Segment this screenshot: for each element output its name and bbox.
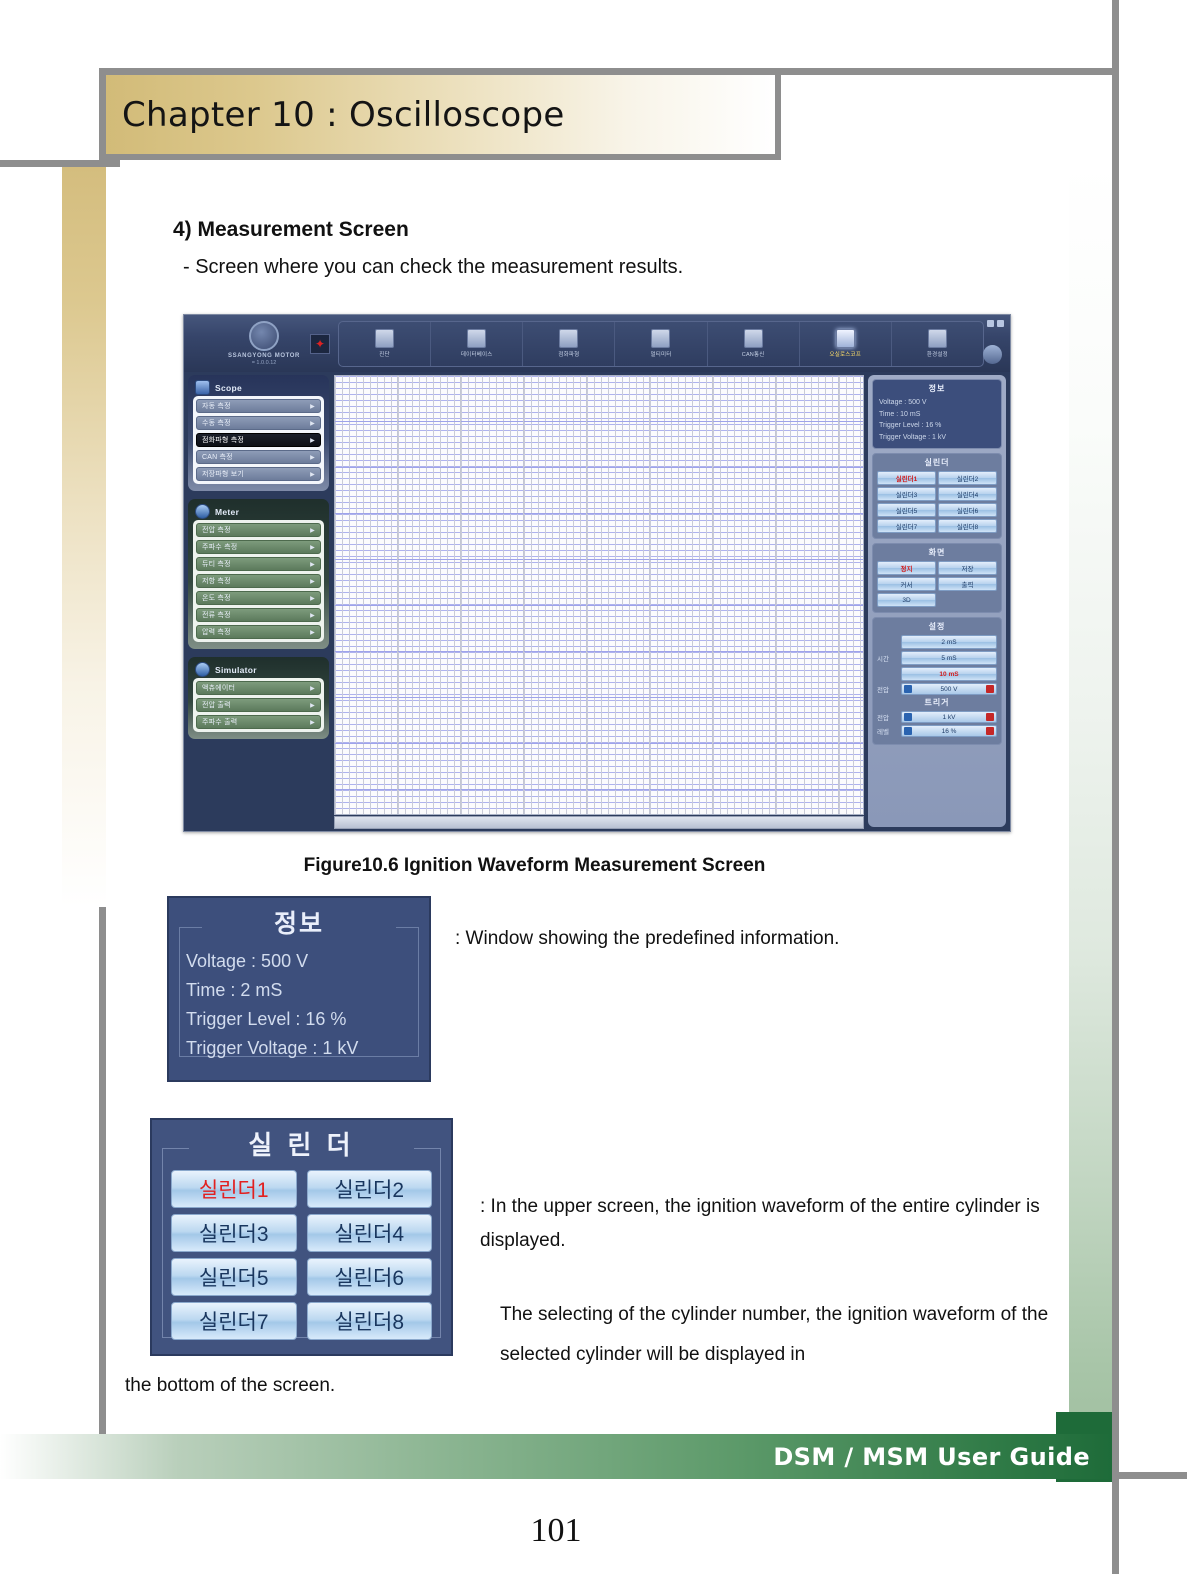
toolbar-item-settings[interactable]: 환경설정 (892, 322, 983, 366)
horizontal-scrollbar[interactable] (334, 816, 864, 829)
chevron-right-icon: ▶ (310, 612, 315, 619)
panel-settings: 설정시간2 mS5 mS10 mS전압500 V트리거전압1 kV레벨16 % (872, 617, 1002, 745)
settings-time-option[interactable]: 10 mS (901, 667, 997, 681)
sidebar-item-scope[interactable]: 수동 측정▶ (196, 416, 321, 430)
sidebar-item-label: 압력 측정 (202, 627, 231, 637)
cylinder-note-2: The selecting of the cylinder number, th… (500, 1295, 1060, 1375)
toolbar-item-diamond[interactable]: 데이터베이스 (431, 322, 523, 366)
toolbar-item-magnifier[interactable]: 진단 (339, 322, 431, 366)
chevron-right-icon: ▶ (310, 685, 315, 692)
toolbar-item-label: 멀티미터 (650, 350, 671, 358)
sidebar-panel-header: Simulator (193, 661, 324, 678)
cylinder-callout-button[interactable]: 실린더5 (171, 1258, 297, 1296)
chevron-right-icon: ▶ (310, 420, 315, 427)
simulator-panel-icon (195, 662, 210, 677)
settings-trigger-voltage-row: 전압1 kV (877, 711, 997, 723)
sidebar-item-label: 자동 측정 (202, 401, 231, 411)
settings-voltage-label: 전압 (877, 684, 897, 694)
chevron-right-icon: ▶ (310, 629, 315, 636)
cylinder-button-grid: 실린더1실린더2실린더3실린더4실린더5실린더6실린더7실린더8 (171, 1170, 432, 1340)
toolbar-item-scope[interactable]: 오실로스코프 (800, 322, 892, 366)
sidebar-item-label: 점화파형 측정 (202, 435, 244, 445)
scope-panel-icon (195, 380, 210, 395)
toolbar-item-label: 오실로스코프 (829, 350, 861, 358)
brand-version: = 1.0.0.12 (252, 360, 277, 366)
toolbar-item-waveform[interactable]: 점화파형 (523, 322, 615, 366)
info-line: Time : 2 mS (180, 976, 418, 1005)
settings-trigger-level-stepper[interactable]: 16 % (901, 725, 997, 737)
cylinder-callout-button[interactable]: 실린더7 (171, 1302, 297, 1340)
toolbar-item-meter[interactable]: 멀티미터 (615, 322, 707, 366)
panel-screen-grid: 정지저장커서출력3D (877, 561, 997, 607)
info-callout-frame: Voltage : 500 V Time : 2 mS Trigger Leve… (179, 927, 419, 1057)
sidebar-item-label: 주파수 출력 (202, 717, 237, 727)
panel-cylinder-button[interactable]: 실린더3 (877, 487, 936, 501)
panel-screen-title: 화면 (877, 547, 997, 558)
sidebar-panel-scope: Scope자동 측정▶수동 측정▶점화파형 측정▶CAN 측정▶저장파형 보기▶ (188, 375, 329, 491)
sidebar-item-meter[interactable]: 전압 측정▶ (196, 523, 321, 537)
panel-info-title: 정보 (877, 383, 997, 394)
sidebar-item-label: 저장파형 보기 (202, 469, 244, 479)
decrement-icon[interactable] (904, 727, 912, 735)
section-title: 4) Measurement Screen (173, 218, 409, 242)
cylinder-callout-button[interactable]: 실린더4 (307, 1214, 433, 1252)
sidebar-panel-simulator: Simulator액츄에이터▶전압 출력▶주파수 출력▶ (188, 657, 329, 739)
cylinder-note-1: : In the upper screen, the ignition wave… (480, 1190, 1060, 1258)
sidebar-item-scope[interactable]: CAN 측정▶ (196, 450, 321, 464)
chevron-right-icon: ▶ (310, 561, 315, 568)
panel-cylinder-button[interactable]: 실린더8 (938, 519, 997, 533)
record-indicator-icon: ✦ (310, 334, 330, 354)
panel-cylinder-button[interactable]: 실린더1 (877, 471, 936, 485)
panel-screen-button[interactable]: 3D (877, 593, 936, 607)
sidebar-item-simulator[interactable]: 주파수 출력▶ (196, 715, 321, 729)
panel-screen-button[interactable]: 저장 (938, 561, 997, 575)
panel-info-line: Time : 10 mS (877, 409, 997, 421)
cylinder-callout-button[interactable]: 실린더8 (307, 1302, 433, 1340)
cylinder-callout-button[interactable]: 실린더6 (307, 1258, 433, 1296)
sidebar-item-scope[interactable]: 점화파형 측정▶ (196, 433, 321, 447)
decorative-gold-strip (62, 167, 106, 907)
window-controls[interactable] (987, 320, 1004, 327)
diamond-icon (467, 329, 486, 348)
settings-trigger-level-row: 레벨16 % (877, 725, 997, 737)
network-icon (744, 329, 763, 348)
app-right-panel: 정보Voltage : 500 VTime : 10 mSTrigger Lev… (868, 375, 1006, 827)
chevron-right-icon: ▶ (310, 454, 315, 461)
panel-cylinder-button[interactable]: 실린더7 (877, 519, 936, 533)
settings-trigger-voltage-value: 1 kV (912, 714, 986, 721)
toolbar-item-label: 환경설정 (927, 350, 948, 358)
sidebar-item-meter[interactable]: 듀티 측정▶ (196, 557, 321, 571)
magnifier-icon (375, 329, 394, 348)
settings-time-option[interactable]: 2 mS (901, 635, 997, 649)
panel-screen-button[interactable]: 출력 (938, 577, 997, 591)
sidebar-item-meter[interactable]: 주파수 측정▶ (196, 540, 321, 554)
sidebar-item-label: 전류 측정 (202, 610, 231, 620)
sidebar-item-label: 주파수 측정 (202, 542, 237, 552)
panel-info-line: Trigger Level : 16 % (877, 420, 997, 432)
panel-screen-button[interactable]: 정지 (877, 561, 936, 575)
settings-time-label: 시간 (877, 653, 897, 663)
cylinder-callout-button[interactable]: 실린더3 (171, 1214, 297, 1252)
increment-icon[interactable] (986, 727, 994, 735)
brand-name: SSANGYONG MOTOR (228, 353, 300, 359)
chevron-right-icon: ▶ (310, 527, 315, 534)
chapter-title: Chapter 10 : Oscilloscope (106, 95, 565, 135)
cylinder-callout-button[interactable]: 실린더2 (307, 1170, 433, 1208)
footer-bar: DSM / MSM User Guide (0, 1434, 1112, 1479)
chevron-right-icon: ▶ (310, 403, 315, 410)
page-border-right (1112, 0, 1119, 1574)
toolbar-item-label: 데이터베이스 (461, 350, 493, 358)
brand-logo-icon (249, 321, 279, 351)
chevron-right-icon: ▶ (310, 702, 315, 709)
settings-trigger-voltage-stepper[interactable]: 1 kV (901, 711, 997, 723)
chevron-right-icon: ▶ (310, 544, 315, 551)
cylinder-callout: 실 린 더 실린더1실린더2실린더3실린더4실린더5실린더6실린더7실린더8 (150, 1118, 453, 1356)
settings-trigger-level-value: 16 % (912, 728, 986, 735)
sidebar-item-meter[interactable]: 저항 측정▶ (196, 574, 321, 588)
meter-panel-icon (195, 504, 210, 519)
panel-cylinder: 실린더실린더1실린더2실린더3실린더4실린더5실린더6실린더7실린더8 (872, 453, 1002, 539)
sidebar-item-simulator[interactable]: 전압 출력▶ (196, 698, 321, 712)
toolbar-item-label: 점화파형 (558, 350, 579, 358)
chevron-right-icon: ▶ (310, 719, 315, 726)
info-line: Voltage : 500 V (180, 947, 418, 976)
panel-cylinder-button[interactable]: 실린더5 (877, 503, 936, 517)
panel-cylinder-button[interactable]: 실린더2 (938, 471, 997, 485)
sidebar-item-label: 수동 측정 (202, 418, 231, 428)
panel-cylinder-button[interactable]: 실린더4 (938, 487, 997, 501)
panel-info-line: Voltage : 500 V (877, 397, 997, 409)
info-line: Trigger Voltage : 1 kV (180, 1034, 418, 1063)
sidebar-item-meter[interactable]: 압력 측정▶ (196, 625, 321, 639)
panel-cylinder-button[interactable]: 실린더6 (938, 503, 997, 517)
settings-time-row: 시간2 mS5 mS10 mS (877, 635, 997, 681)
scope-icon (836, 329, 855, 348)
chevron-right-icon: ▶ (310, 595, 315, 602)
panel-screen-button[interactable]: 커서 (877, 577, 936, 591)
settings-voltage-value: 500 V (912, 686, 986, 693)
sidebar-item-label: 온도 측정 (202, 593, 231, 603)
cylinder-note-3: the bottom of the screen. (125, 1375, 335, 1397)
settings-trigger-level-label: 레벨 (877, 726, 897, 736)
sidebar-item-scope[interactable]: 저장파형 보기▶ (196, 467, 321, 481)
meter-icon (651, 329, 670, 348)
increment-icon[interactable] (986, 713, 994, 721)
cylinder-callout-frame: 실린더1실린더2실린더3실린더4실린더5실린더6실린더7실린더8 (162, 1148, 441, 1338)
sidebar-panel-header: Scope (193, 379, 324, 396)
page-border-top (99, 68, 1112, 75)
page-canvas: Chapter 10 : Oscilloscope 4) Measurement… (0, 0, 1187, 1574)
info-callout: 정보 Voltage : 500 V Time : 2 mS Trigger L… (167, 896, 431, 1082)
panel-screen: 화면정지저장커서출력3D (872, 543, 1002, 613)
chapter-header: Chapter 10 : Oscilloscope (106, 75, 781, 160)
toolbar-item-label: 진단 (379, 350, 390, 358)
section-subtitle: - Screen where you can check the measure… (183, 256, 683, 279)
increment-icon[interactable] (986, 685, 994, 693)
app-toolbar: 진단데이터베이스점화파형멀티미터CAN통신오실로스코프환경설정 (338, 321, 984, 367)
sidebar-item-scope[interactable]: 자동 측정▶ (196, 399, 321, 413)
user-account-icon[interactable] (983, 345, 1002, 364)
settings-trigger-title: 트리거 (877, 697, 997, 708)
chevron-right-icon: ▶ (310, 471, 315, 478)
cylinder-callout-button[interactable]: 실린더1 (171, 1170, 297, 1208)
panel-info-line: Trigger Voltage : 1 kV (877, 432, 997, 444)
info-callout-note: : Window showing the predefined informat… (455, 928, 839, 950)
app-sidebar: Scope자동 측정▶수동 측정▶점화파형 측정▶CAN 측정▶저장파형 보기▶… (188, 375, 329, 827)
sidebar-item-label: CAN 측정 (202, 452, 233, 462)
sidebar-item-simulator[interactable]: 액츄에이터▶ (196, 681, 321, 695)
settings-voltage-row: 전압500 V (877, 683, 997, 695)
application-screenshot: SSANGYONG MOTOR = 1.0.0.12 ✦ 진단데이터베이스점화파… (183, 314, 1011, 832)
sidebar-item-label: 전압 측정 (202, 525, 231, 535)
sidebar-panel-body: 전압 측정▶주파수 측정▶듀티 측정▶저항 측정▶온도 측정▶전류 측정▶압력 … (193, 520, 324, 642)
settings-voltage-stepper[interactable]: 500 V (901, 683, 997, 695)
sidebar-panel-meter: Meter전압 측정▶주파수 측정▶듀티 측정▶저항 측정▶온도 측정▶전류 측… (188, 499, 329, 649)
settings-icon (928, 329, 947, 348)
sidebar-item-meter[interactable]: 전류 측정▶ (196, 608, 321, 622)
sidebar-panel-header: Meter (193, 503, 324, 520)
decorative-green-strip (1069, 160, 1112, 1472)
sidebar-item-meter[interactable]: 온도 측정▶ (196, 591, 321, 605)
settings-trigger-voltage-label: 전압 (877, 712, 897, 722)
grid-vertical-lines (335, 376, 863, 814)
toolbar-item-network[interactable]: CAN통신 (708, 322, 800, 366)
sidebar-item-label: 전압 출력 (202, 700, 231, 710)
figure-caption: Figure10.6 Ignition Waveform Measurement… (0, 855, 1069, 877)
settings-time-options: 2 mS5 mS10 mS (901, 635, 997, 681)
panel-cylinder-title: 실린더 (877, 457, 997, 468)
chevron-right-icon: ▶ (310, 437, 315, 444)
waveform-icon (559, 329, 578, 348)
toolbar-item-label: CAN통신 (742, 350, 765, 358)
page-number: 101 (0, 1512, 1112, 1550)
oscilloscope-grid[interactable] (334, 375, 864, 815)
info-line: Trigger Level : 16 % (180, 1005, 418, 1034)
sidebar-panel-body: 자동 측정▶수동 측정▶점화파형 측정▶CAN 측정▶저장파형 보기▶ (193, 396, 324, 484)
chevron-right-icon: ▶ (310, 578, 315, 585)
decrement-icon[interactable] (904, 685, 912, 693)
footer-text: DSM / MSM User Guide (773, 1443, 1112, 1471)
panel-info: 정보Voltage : 500 VTime : 10 mSTrigger Lev… (872, 379, 1002, 449)
sidebar-panel-title: Scope (215, 383, 242, 393)
panel-settings-title: 설정 (877, 621, 997, 632)
sidebar-item-label: 저항 측정 (202, 576, 231, 586)
sidebar-panel-body: 액츄에이터▶전압 출력▶주파수 출력▶ (193, 678, 324, 732)
sidebar-panel-title: Simulator (215, 665, 257, 675)
app-toolbar-bar: SSANGYONG MOTOR = 1.0.0.12 ✦ 진단데이터베이스점화파… (184, 315, 1010, 372)
panel-cylinder-grid: 실린더1실린더2실린더3실린더4실린더5실린더6실린더7실린더8 (877, 471, 997, 533)
decrement-icon[interactable] (904, 713, 912, 721)
sidebar-item-label: 액츄에이터 (202, 683, 235, 693)
settings-time-option[interactable]: 5 mS (901, 651, 997, 665)
sidebar-item-label: 듀티 측정 (202, 559, 231, 569)
sidebar-panel-title: Meter (215, 507, 239, 517)
page-border-footer-right (1112, 1472, 1187, 1479)
